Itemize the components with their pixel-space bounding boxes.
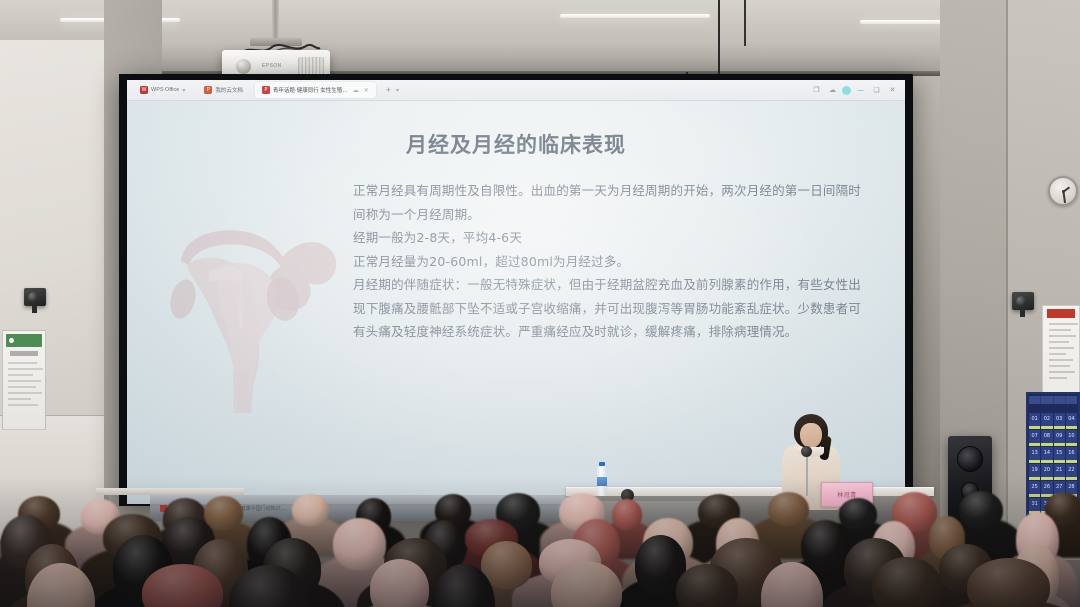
phone-pocket: 03	[1054, 413, 1065, 429]
audience-member-head	[768, 492, 809, 526]
audience-area	[0, 477, 1080, 607]
slide-paragraph-4: 月经期的伴随症状：一般无特殊症状，但由于经期盆腔充血及前列腺素的作用，有些女性出…	[353, 273, 873, 344]
tab-label: WPS Office	[151, 87, 179, 93]
slide-paragraph-1: 正常月经具有周期性及自限性。出血的第一天为月经周期的开始，两次月经的第一日间隔时…	[353, 179, 873, 226]
slide-paragraph-2: 经期一般为2-8天，平均4-6天	[353, 226, 873, 250]
phone-pocket: 09	[1054, 430, 1065, 446]
ceiling-light-strip	[560, 14, 710, 18]
audience-member-head	[959, 491, 1003, 529]
phone-pocket: 07	[1029, 430, 1040, 446]
audience-member-head	[676, 564, 738, 607]
maximize-icon[interactable]: ❏	[870, 84, 883, 97]
podium-microphone-icon	[801, 446, 812, 457]
tab-label: 我的云文档	[215, 86, 243, 94]
poster-right	[1042, 305, 1080, 402]
wall-camera-left-icon	[24, 288, 46, 306]
tab-active-document[interactable]: P 青年话题·健康同行 女性生殖… ☁ ✕	[255, 82, 376, 98]
audience-member-head	[801, 520, 851, 573]
uterus-anatomy-illustration	[163, 213, 353, 418]
tab-my-cloud-docs[interactable]: P 我的云文档	[197, 82, 250, 98]
projector-mount-pole	[272, 0, 279, 40]
audience-member-head	[333, 518, 386, 569]
phone-pocket: 02	[1041, 413, 1052, 429]
audience-member-head	[204, 496, 243, 530]
ceiling	[0, 0, 1080, 76]
hanging-wire	[718, 0, 720, 84]
slide-paragraph-3: 正常月经量为20-60ml，超过80ml为月经过多。	[353, 250, 873, 274]
phone-pocket: 10	[1066, 430, 1077, 446]
phone-pocket: 14	[1041, 447, 1052, 463]
phone-board-header	[1029, 396, 1077, 404]
tab-close-icon[interactable]: ✕	[364, 87, 369, 94]
phone-pocket: 04	[1066, 413, 1077, 429]
audience-member-head	[612, 499, 642, 530]
phone-pocket: 01	[1029, 413, 1040, 429]
restore-icon[interactable]: ❐	[810, 84, 823, 97]
tab-wps-office[interactable]: W WPS Office ▾	[133, 82, 192, 98]
tab-cloud-icon[interactable]: ☁	[353, 87, 359, 94]
wps-logo-icon: W	[140, 86, 148, 94]
wall-camera-right-icon	[1012, 292, 1034, 310]
phone-pocket: 13	[1029, 447, 1040, 463]
chevron-down-icon: ▾	[182, 87, 185, 94]
slide-body-text: 正常月经具有周期性及自限性。出血的第一天为月经周期的开始，两次月经的第一日间隔时…	[353, 179, 873, 344]
audience-member-head	[872, 557, 942, 607]
hanging-wire	[744, 0, 746, 46]
phone-pocket: 15	[1054, 447, 1065, 463]
new-tab-button[interactable]: +	[381, 85, 396, 95]
wall-clock	[1048, 176, 1078, 206]
slide-title: 月经及月经的临床表现	[127, 129, 905, 159]
projector-brand-label: EPSON	[262, 63, 282, 69]
audience-member-head	[292, 494, 329, 526]
tab-label: 青年话题·健康同行 女性生殖…	[273, 86, 348, 94]
phone-pocket: 08	[1041, 430, 1052, 446]
minimize-icon[interactable]: —	[854, 84, 867, 97]
lecture-hall-room: 0102030407080910131415161920212225262728…	[0, 0, 1080, 607]
poster-left	[2, 330, 46, 430]
wps-office-tab-bar: W WPS Office ▾ P 我的云文档 P 青年话题·健康同行 女性生殖……	[127, 80, 905, 101]
cloud-sync-icon[interactable]: ☁	[826, 84, 839, 97]
audience-member-head	[839, 498, 877, 530]
document-icon: P	[262, 86, 270, 94]
close-icon[interactable]: ✕	[886, 84, 899, 97]
presentation-icon: P	[204, 86, 212, 94]
account-avatar[interactable]	[842, 86, 851, 95]
phone-pocket: 16	[1066, 447, 1077, 463]
tab-list-caret-icon[interactable]: ▾	[396, 87, 399, 94]
projector-lens-icon	[236, 59, 251, 74]
